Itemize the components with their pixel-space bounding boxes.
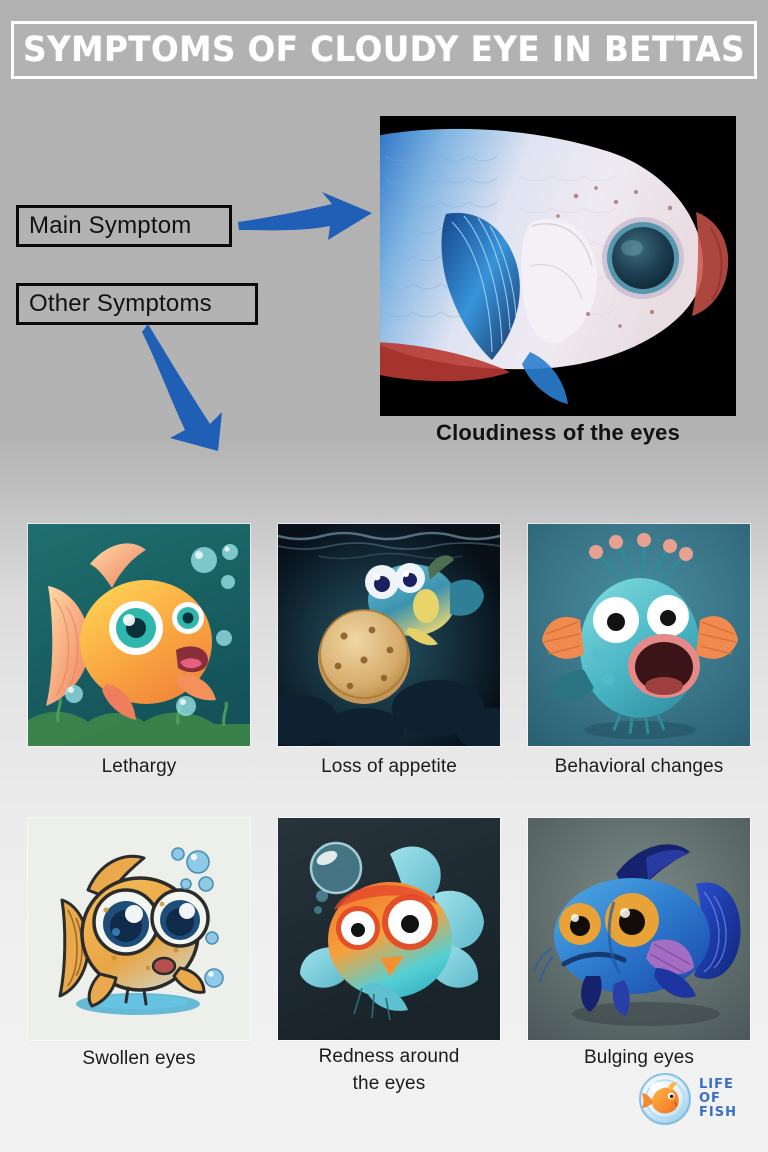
goldfish-in-bubble-icon bbox=[638, 1072, 692, 1126]
logo-line-2: OF bbox=[699, 1092, 737, 1106]
arrow-down-icon bbox=[140, 320, 260, 455]
symptom-card-bulging-eyes bbox=[528, 818, 750, 1040]
symptom-caption-lethargy: Lethargy bbox=[8, 753, 270, 780]
logo-wordmark: LIFE OF FISH bbox=[699, 1078, 737, 1120]
bulging-eyes-illustration bbox=[528, 818, 750, 1040]
title-frame: SYMPTOMS OF CLOUDY EYE IN BETTAS bbox=[11, 21, 757, 79]
legend-other-symptoms: Other Symptoms bbox=[16, 283, 258, 325]
symptom-card-behavioral-changes bbox=[528, 524, 750, 746]
brand-logo[interactable]: LIFE OF FISH bbox=[638, 1068, 760, 1130]
behavioral-changes-illustration bbox=[528, 524, 750, 746]
symptom-caption-bulging-eyes: Bulging eyes bbox=[508, 1044, 768, 1071]
legend-main-symptom-label: Main Symptom bbox=[29, 212, 191, 240]
hero-caption: Cloudiness of the eyes bbox=[380, 420, 736, 446]
symptom-card-swollen-eyes bbox=[28, 818, 250, 1040]
arrow-right-icon bbox=[236, 186, 376, 256]
legend-main-symptom: Main Symptom bbox=[16, 205, 232, 247]
symptom-card-redness-around-eyes bbox=[278, 818, 500, 1040]
loss-of-appetite-illustration bbox=[278, 524, 500, 746]
symptom-card-lethargy bbox=[28, 524, 250, 746]
caption-line-2: the eyes bbox=[353, 1073, 426, 1094]
caption-line-1: Redness around bbox=[319, 1046, 460, 1067]
symptom-caption-redness-around-eyes: Redness around the eyes bbox=[258, 1043, 520, 1097]
lethargy-fish-illustration bbox=[28, 524, 250, 746]
hero-image-cloudy-eye bbox=[380, 116, 736, 416]
symptom-card-loss-of-appetite bbox=[278, 524, 500, 746]
swollen-eyes-illustration bbox=[28, 818, 250, 1040]
infographic-poster: SYMPTOMS OF CLOUDY EYE IN BETTAS Main Sy… bbox=[0, 0, 768, 1152]
legend-other-symptoms-label: Other Symptoms bbox=[29, 290, 212, 318]
redness-around-eyes-illustration bbox=[278, 818, 500, 1040]
logo-line-3: FISH bbox=[699, 1106, 737, 1120]
symptom-caption-swollen-eyes: Swollen eyes bbox=[8, 1045, 270, 1072]
betta-fish-illustration bbox=[380, 116, 736, 416]
symptom-caption-loss-of-appetite: Loss of appetite bbox=[258, 753, 520, 780]
logo-line-1: LIFE bbox=[699, 1078, 737, 1092]
page-title: SYMPTOMS OF CLOUDY EYE IN BETTAS bbox=[23, 32, 745, 68]
symptom-caption-behavioral-changes: Behavioral changes bbox=[508, 753, 768, 780]
